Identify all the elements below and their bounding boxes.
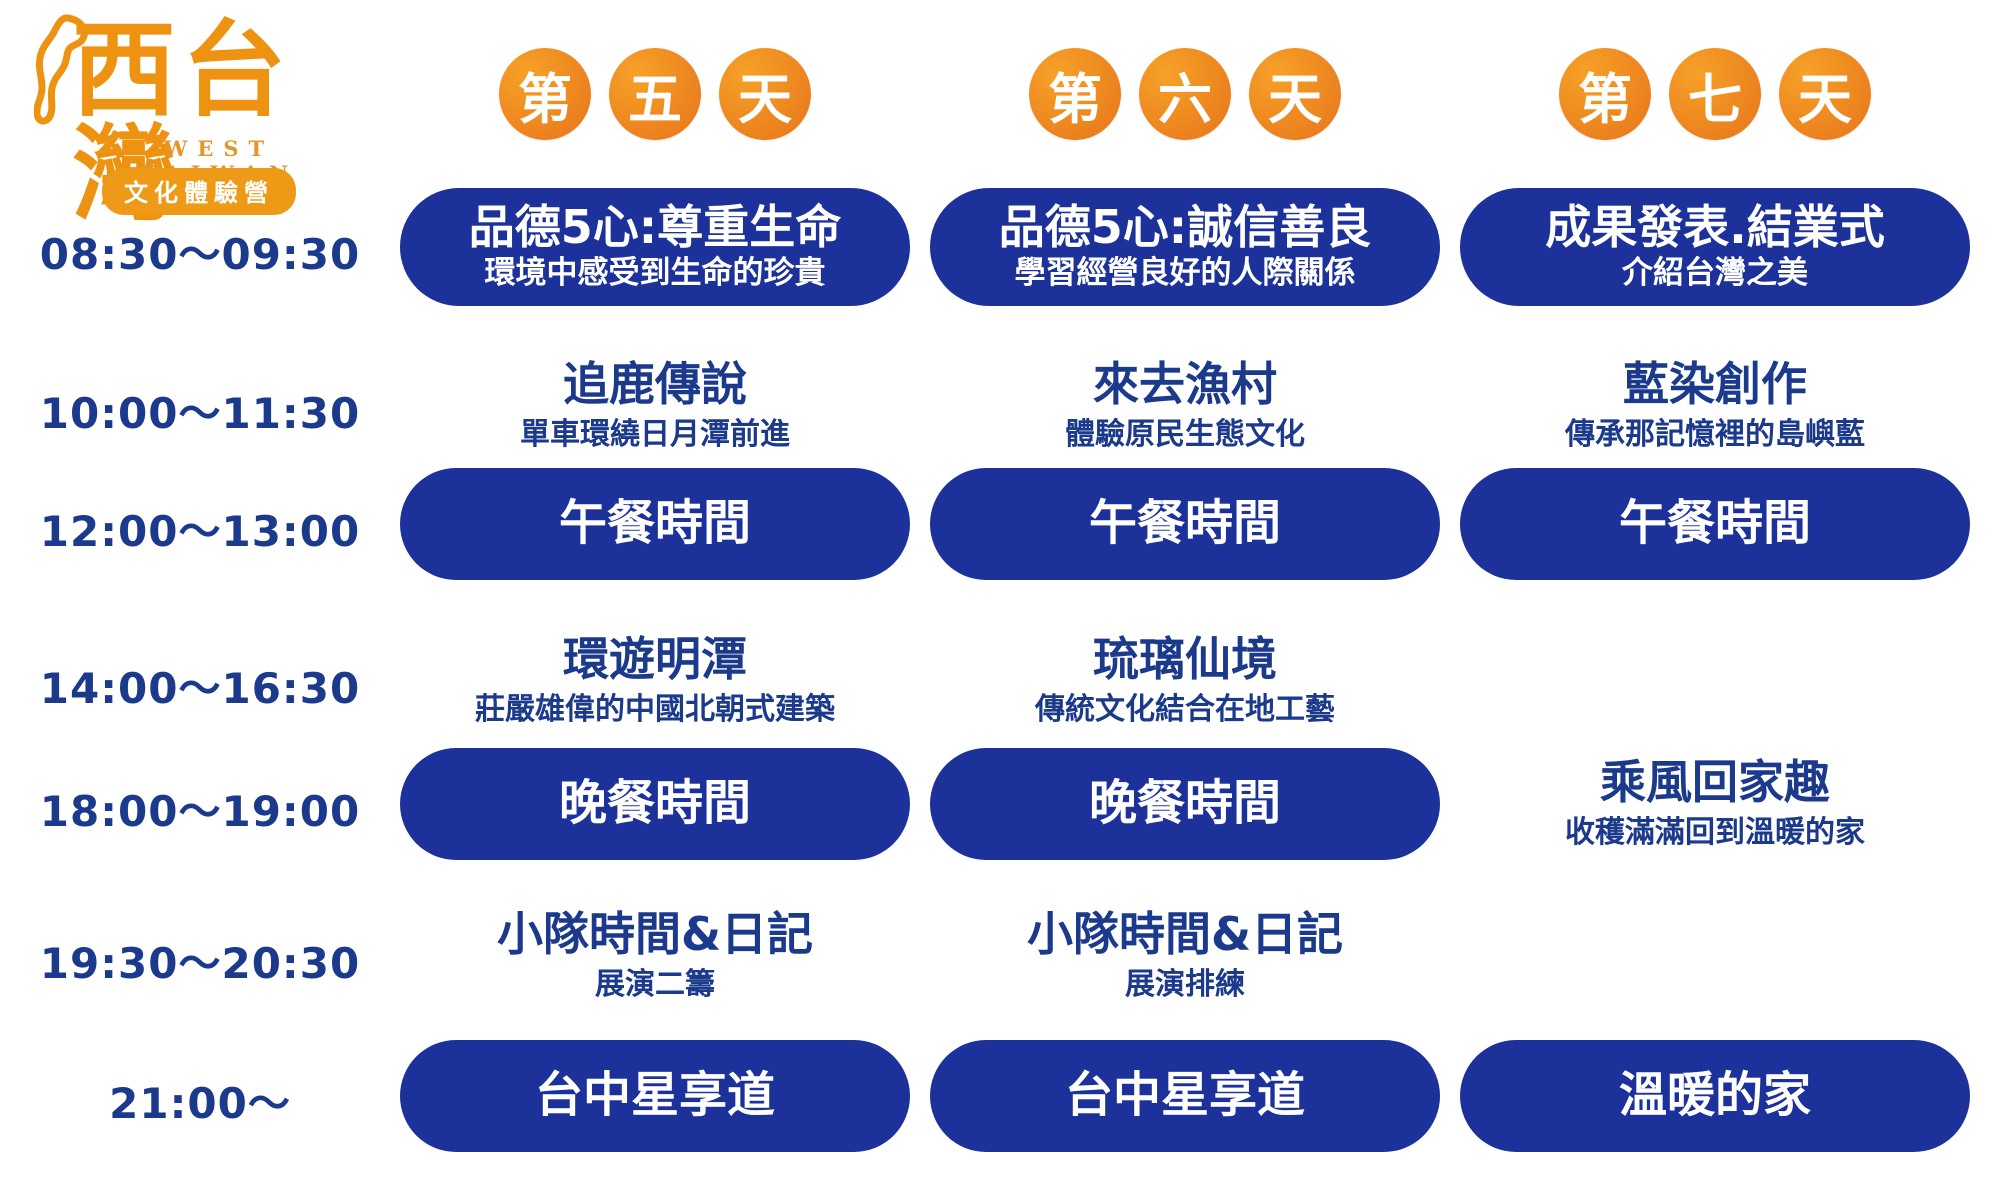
day-badge-char: 第 — [499, 48, 591, 140]
time-label-2: 10:00〜11:30 — [0, 380, 400, 441]
schedule-cell-d2-r3[interactable]: 午餐時間 — [930, 468, 1440, 580]
schedule-cell-d1-r6[interactable]: 小隊時間&日記展演二籌 — [400, 900, 910, 1012]
schedule-cell-d1-r2[interactable]: 追鹿傳說單車環繞日月潭前進 — [400, 350, 910, 462]
schedule-cell-d2-r4[interactable]: 琉璃仙境傳統文化結合在地工藝 — [930, 625, 1440, 737]
schedule-cell-d3-r3[interactable]: 午餐時間 — [1460, 468, 1970, 580]
cell-subtitle: 學習經營良好的人際關係 — [1015, 255, 1356, 292]
cell-title: 小隊時間&日記 — [497, 909, 813, 961]
cell-title: 來去漁村 — [1093, 359, 1277, 411]
schedule-cell-d1-r4[interactable]: 環遊明潭莊嚴雄偉的中國北朝式建築 — [400, 625, 910, 737]
day-badge-char: 天 — [1249, 48, 1341, 140]
cell-title: 台中星享道 — [535, 1069, 775, 1123]
schedule-cell-d2-r6[interactable]: 小隊時間&日記展演排練 — [930, 900, 1440, 1012]
schedule-cell-d3-r2[interactable]: 藍染創作傳承那記憶裡的島嶼藍 — [1460, 350, 1970, 462]
cell-subtitle: 莊嚴雄偉的中國北朝式建築 — [475, 692, 835, 728]
day-header-1: 第五天 — [400, 40, 910, 148]
time-label-1: 08:30〜09:30 — [0, 221, 400, 282]
cell-title: 琉璃仙境 — [1093, 634, 1277, 686]
cell-title: 乘風回家趣 — [1600, 757, 1830, 809]
schedule-poster: 西台灣 WEST TAIWAN 文化體驗營 第五天第六天第七天08:30〜09:… — [0, 0, 2000, 1200]
day-badge-char: 六 — [1139, 48, 1231, 140]
cell-title: 台中星享道 — [1065, 1069, 1305, 1123]
schedule-cell-d1-r5[interactable]: 晚餐時間 — [400, 748, 910, 860]
time-label-5: 18:00〜19:00 — [0, 778, 400, 839]
cell-title: 藍染創作 — [1623, 359, 1807, 411]
cell-title: 成果發表.結業式 — [1545, 202, 1884, 254]
cell-subtitle: 傳統文化結合在地工藝 — [1035, 692, 1335, 728]
cell-subtitle: 體驗原民生態文化 — [1065, 417, 1305, 453]
time-label-3: 12:00〜13:00 — [0, 498, 400, 559]
cell-title: 追鹿傳說 — [563, 359, 747, 411]
schedule-cell-d2-r1[interactable]: 品德5心:誠信善良學習經營良好的人際關係 — [930, 188, 1440, 306]
cell-title: 午餐時間 — [559, 497, 751, 551]
schedule-cell-d1-r1[interactable]: 品德5心:尊重生命環境中感受到生命的珍貴 — [400, 188, 910, 306]
cell-subtitle: 收穫滿滿回到溫暖的家 — [1565, 815, 1865, 851]
time-label-4: 14:00〜16:30 — [0, 655, 400, 716]
day-header-2: 第六天 — [930, 40, 1440, 148]
schedule-cell-d1-r7[interactable]: 台中星享道 — [400, 1040, 910, 1152]
day-badge-char: 第 — [1559, 48, 1651, 140]
cell-title: 晚餐時間 — [1089, 777, 1281, 831]
schedule-cell-d2-r5[interactable]: 晚餐時間 — [930, 748, 1440, 860]
schedule-cell-d1-r3[interactable]: 午餐時間 — [400, 468, 910, 580]
cell-title: 午餐時間 — [1619, 497, 1811, 551]
day-badge-char: 第 — [1029, 48, 1121, 140]
time-label-7: 21:00〜 — [0, 1070, 400, 1131]
cell-subtitle: 單車環繞日月潭前進 — [520, 417, 790, 453]
cell-title: 品德5心:尊重生命 — [469, 202, 841, 254]
cell-subtitle: 環境中感受到生命的珍貴 — [485, 255, 826, 292]
cell-title: 溫暖的家 — [1619, 1069, 1811, 1123]
cell-title: 小隊時間&日記 — [1027, 909, 1343, 961]
cell-subtitle: 介紹台灣之美 — [1622, 255, 1808, 292]
cell-title: 午餐時間 — [1089, 497, 1281, 551]
day-header-3: 第七天 — [1460, 40, 1970, 148]
day-badge-char: 七 — [1669, 48, 1761, 140]
schedule-cell-d3-r1[interactable]: 成果發表.結業式介紹台灣之美 — [1460, 188, 1970, 306]
brand-logo: 西台灣 WEST TAIWAN 文化體驗營 — [28, 8, 368, 220]
day-badge-char: 五 — [609, 48, 701, 140]
schedule-cell-d3-r7[interactable]: 溫暖的家 — [1460, 1040, 1970, 1152]
day-badge-char: 天 — [719, 48, 811, 140]
cell-subtitle: 展演排練 — [1125, 967, 1245, 1003]
cell-subtitle: 展演二籌 — [595, 967, 715, 1003]
schedule-cell-d2-r7[interactable]: 台中星享道 — [930, 1040, 1440, 1152]
day-badge-char: 天 — [1779, 48, 1871, 140]
cell-subtitle: 傳承那記憶裡的島嶼藍 — [1565, 417, 1865, 453]
cell-title: 環遊明潭 — [563, 634, 747, 686]
schedule-cell-d3-r5[interactable]: 乘風回家趣收穫滿滿回到溫暖的家 — [1460, 748, 1970, 860]
cell-title: 晚餐時間 — [559, 777, 751, 831]
schedule-cell-d2-r2[interactable]: 來去漁村體驗原民生態文化 — [930, 350, 1440, 462]
cell-title: 品德5心:誠信善良 — [999, 202, 1371, 254]
logo-subtitle-badge: 文化體驗營 — [102, 168, 296, 215]
time-label-6: 19:30〜20:30 — [0, 930, 400, 991]
